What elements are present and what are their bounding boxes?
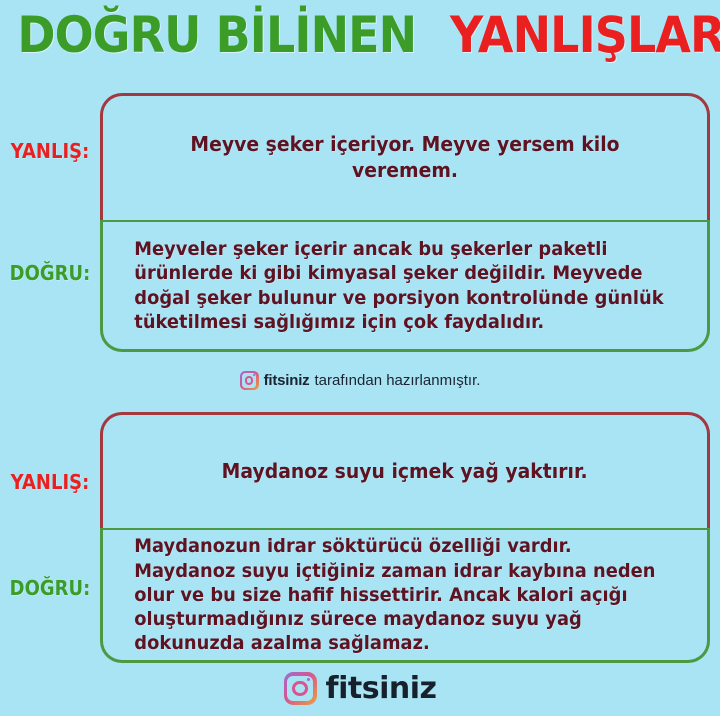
card-1-box: Meyve şeker içeriyor. Meyve yersem kilo … <box>100 93 710 352</box>
card-1-right-section: Meyveler şeker içerir ancak bu şekerler … <box>100 220 710 352</box>
instagram-ring <box>292 681 307 696</box>
attribution-rest: tarafından hazırlanmıştır. <box>314 372 480 389</box>
card-2-wrong-text: Maydanoz suyu içmek yağ yaktırır. <box>222 459 588 485</box>
footer-brand: fitsiniz <box>0 671 720 706</box>
myth-card-1: YANLIŞ: DOĞRU: Meyve şeker içeriyor. Mey… <box>0 93 720 352</box>
page-title-red: YANLIŞLAR <box>450 10 720 60</box>
instagram-ring <box>245 376 254 385</box>
page-title-green: DOĞRU BİLİNEN <box>17 10 416 60</box>
card-2-right-label: DOĞRU: <box>5 576 95 600</box>
card-1-wrong-label: YANLIŞ: <box>5 139 95 163</box>
card-2-right-text: Maydanozun idrar söktürücü özelliği vard… <box>134 534 675 656</box>
card-1-right-label: DOĞRU: <box>5 261 95 285</box>
card-1-right-text: Meyveler şeker içerir ancak bu şekerler … <box>134 237 675 334</box>
card-2-right-section: Maydanozun idrar söktürücü özelliği vard… <box>100 528 710 663</box>
attribution-handle: fitsiniz <box>264 372 310 389</box>
instagram-icon <box>284 672 317 705</box>
page-title: DOĞRU BİLİNENYANLIŞLAR <box>0 0 720 60</box>
card-1-wrong-text: Meyve şeker içeriyor. Meyve yersem kilo … <box>134 132 675 183</box>
instagram-dot <box>307 678 310 681</box>
instagram-icon <box>240 371 259 390</box>
attribution-line: fitsiniz tarafından hazırlanmıştır. <box>0 371 720 390</box>
card-1-wrong-section: Meyve şeker içeriyor. Meyve yersem kilo … <box>100 93 710 220</box>
card-2-wrong-label: YANLIŞ: <box>5 470 95 494</box>
myth-card-2: YANLIŞ: DOĞRU: Maydanoz suyu içmek yağ y… <box>0 412 720 663</box>
card-2-box: Maydanoz suyu içmek yağ yaktırır. Maydan… <box>100 412 710 663</box>
footer-handle: fitsiniz <box>326 671 437 706</box>
card-2-wrong-section: Maydanoz suyu içmek yağ yaktırır. <box>100 412 710 528</box>
infographic-page: { "header": { "title_part1": "DOĞRU BİLİ… <box>0 0 720 716</box>
instagram-dot <box>253 374 255 376</box>
